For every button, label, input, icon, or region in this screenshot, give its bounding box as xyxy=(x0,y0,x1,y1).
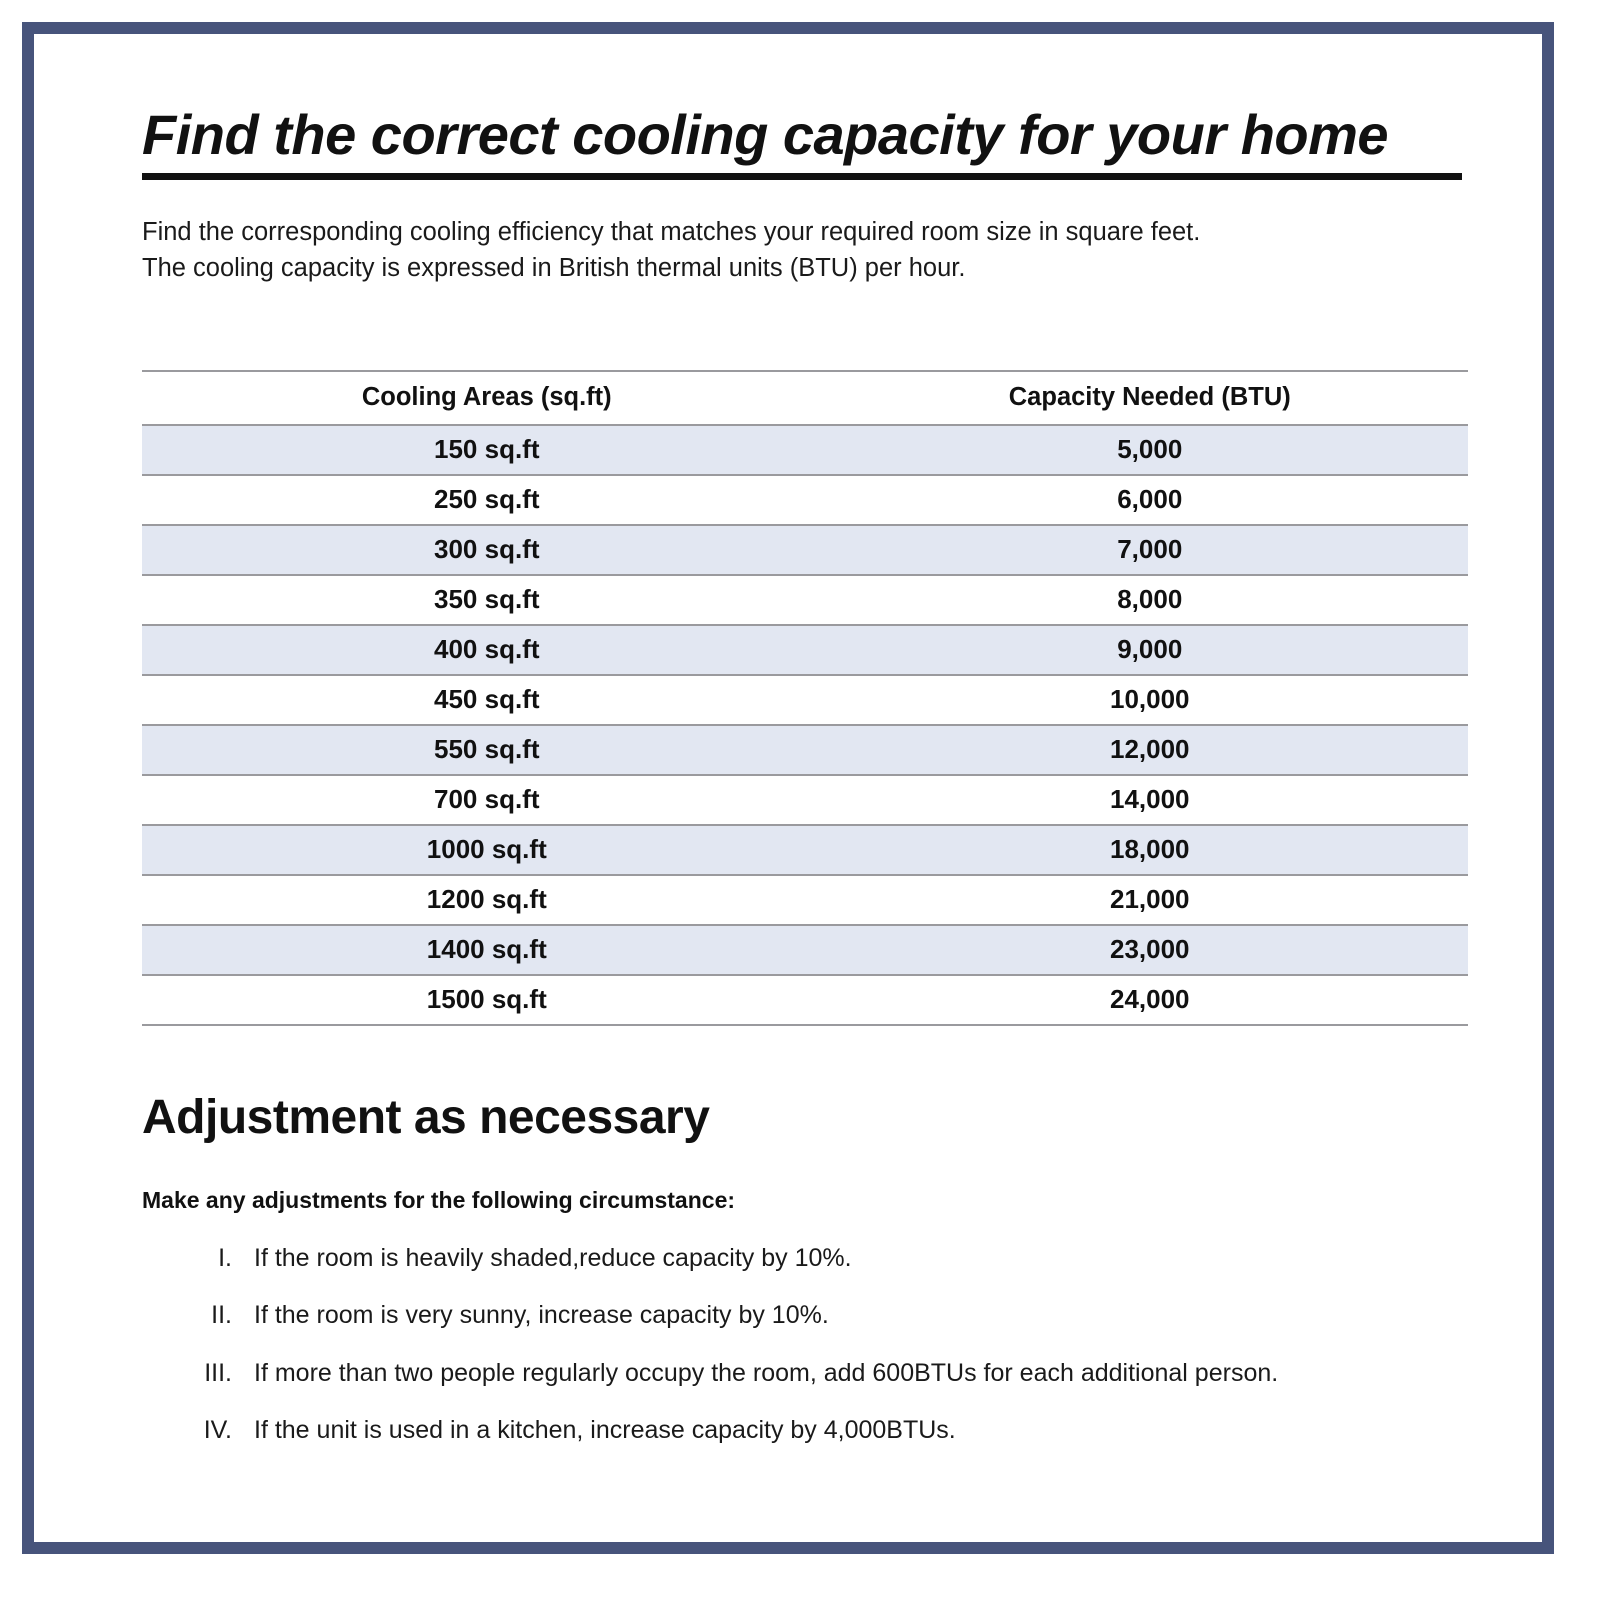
cell-capacity-needed: 5,000 xyxy=(832,425,1468,475)
table-row: 700 sq.ft14,000 xyxy=(142,775,1468,825)
list-item-text: If more than two people regularly occupy… xyxy=(254,1356,1434,1392)
table-row: 550 sq.ft12,000 xyxy=(142,725,1468,775)
cell-cooling-area: 1000 sq.ft xyxy=(142,825,832,875)
cell-capacity-needed: 7,000 xyxy=(832,525,1468,575)
list-item-text: If the room is heavily shaded,reduce cap… xyxy=(254,1241,1434,1277)
cell-capacity-needed: 10,000 xyxy=(832,675,1468,725)
list-item: II.If the room is very sunny, increase c… xyxy=(142,1298,1482,1334)
list-item: III.If more than two people regularly oc… xyxy=(142,1356,1482,1392)
table-row: 1400 sq.ft23,000 xyxy=(142,925,1468,975)
cell-capacity-needed: 9,000 xyxy=(832,625,1468,675)
cell-cooling-area: 150 sq.ft xyxy=(142,425,832,475)
table-row: 250 sq.ft6,000 xyxy=(142,475,1468,525)
list-item-numeral: IV. xyxy=(142,1413,254,1449)
document-content: Find the correct cooling capacity for yo… xyxy=(142,104,1482,1471)
page-title: Find the correct cooling capacity for yo… xyxy=(142,104,1482,173)
table-row: 450 sq.ft10,000 xyxy=(142,675,1468,725)
cell-capacity-needed: 21,000 xyxy=(832,875,1468,925)
cell-cooling-area: 450 sq.ft xyxy=(142,675,832,725)
table-row: 150 sq.ft5,000 xyxy=(142,425,1468,475)
cell-cooling-area: 1200 sq.ft xyxy=(142,875,832,925)
list-item: I.If the room is heavily shaded,reduce c… xyxy=(142,1241,1482,1277)
cell-cooling-area: 1400 sq.ft xyxy=(142,925,832,975)
intro-line-1: Find the corresponding cooling efficienc… xyxy=(142,214,1462,250)
list-item-numeral: II. xyxy=(142,1298,254,1334)
column-header-cooling-areas: Cooling Areas (sq.ft) xyxy=(142,371,832,425)
cell-cooling-area: 400 sq.ft xyxy=(142,625,832,675)
cell-cooling-area: 700 sq.ft xyxy=(142,775,832,825)
cell-capacity-needed: 6,000 xyxy=(832,475,1468,525)
adjustment-list: I.If the room is heavily shaded,reduce c… xyxy=(142,1241,1482,1449)
document-frame: Find the correct cooling capacity for yo… xyxy=(22,22,1554,1554)
table-row: 300 sq.ft7,000 xyxy=(142,525,1468,575)
table-header-row: Cooling Areas (sq.ft) Capacity Needed (B… xyxy=(142,371,1468,425)
table-body: 150 sq.ft5,000250 sq.ft6,000300 sq.ft7,0… xyxy=(142,425,1468,1025)
list-item-numeral: I. xyxy=(142,1241,254,1277)
cell-capacity-needed: 14,000 xyxy=(832,775,1468,825)
cell-capacity-needed: 12,000 xyxy=(832,725,1468,775)
cell-cooling-area: 550 sq.ft xyxy=(142,725,832,775)
intro-line-2: The cooling capacity is expressed in Bri… xyxy=(142,250,1462,286)
table-row: 1200 sq.ft21,000 xyxy=(142,875,1468,925)
cell-capacity-needed: 18,000 xyxy=(832,825,1468,875)
cooling-capacity-table: Cooling Areas (sq.ft) Capacity Needed (B… xyxy=(142,370,1468,1026)
list-item-text: If the unit is used in a kitchen, increa… xyxy=(254,1413,1434,1449)
cell-cooling-area: 1500 sq.ft xyxy=(142,975,832,1025)
cell-capacity-needed: 23,000 xyxy=(832,925,1468,975)
column-header-capacity-needed: Capacity Needed (BTU) xyxy=(832,371,1468,425)
list-item-numeral: III. xyxy=(142,1356,254,1392)
adjustment-subheading: Make any adjustments for the following c… xyxy=(142,1187,1482,1215)
title-underline xyxy=(142,173,1462,180)
table-row: 1500 sq.ft24,000 xyxy=(142,975,1468,1025)
cell-cooling-area: 350 sq.ft xyxy=(142,575,832,625)
list-item: IV.If the unit is used in a kitchen, inc… xyxy=(142,1413,1482,1449)
list-item-text: If the room is very sunny, increase capa… xyxy=(254,1298,1434,1334)
table-row: 1000 sq.ft18,000 xyxy=(142,825,1468,875)
cell-cooling-area: 300 sq.ft xyxy=(142,525,832,575)
intro-paragraph: Find the corresponding cooling efficienc… xyxy=(142,214,1462,286)
cell-cooling-area: 250 sq.ft xyxy=(142,475,832,525)
section-heading-adjustment: Adjustment as necessary xyxy=(142,1092,1482,1145)
cell-capacity-needed: 8,000 xyxy=(832,575,1468,625)
table-row: 400 sq.ft9,000 xyxy=(142,625,1468,675)
cell-capacity-needed: 24,000 xyxy=(832,975,1468,1025)
table-row: 350 sq.ft8,000 xyxy=(142,575,1468,625)
